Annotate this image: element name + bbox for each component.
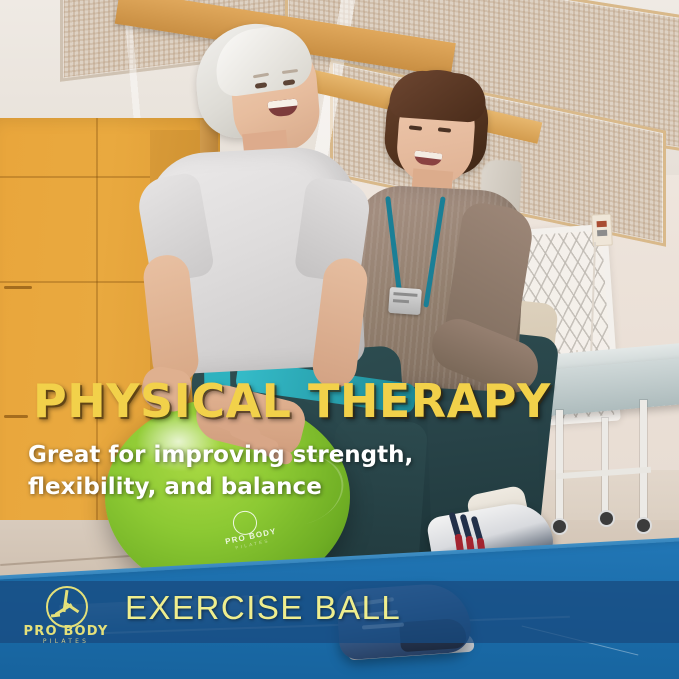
table-leg-right [640,400,647,525]
product-marketing-image: PRO BODY PILATES PHYSICAL THERAPY Great … [0,0,679,679]
product-name: EXERCISE BALL [125,589,401,627]
table-leg-left [556,410,563,525]
table-caster-mid [600,512,613,525]
brand-tagline: PILATES [20,638,112,645]
badge-line-bottom [393,299,409,303]
outlet-indicator-grey [597,230,607,237]
badge-line-top [393,292,417,297]
table-leg-mid [602,418,608,518]
brand-name: PRO BODY [20,624,112,639]
brand-logo: PRO BODY PILATES [20,584,112,640]
subtitle: Great for improving strength, flexibilit… [28,440,413,503]
table-caster-right [637,519,650,532]
cabinet-handle-upper [4,286,32,289]
outlet-indicator-red [597,221,607,228]
subtitle-line-2: flexibility, and balance [28,472,413,504]
table-caster-left [553,520,566,533]
subtitle-line-1: Great for improving strength, [28,440,413,472]
id-badge [388,287,422,315]
headline: PHYSICAL THERAPY [33,378,551,424]
cabinet-handle-lower [4,415,28,418]
